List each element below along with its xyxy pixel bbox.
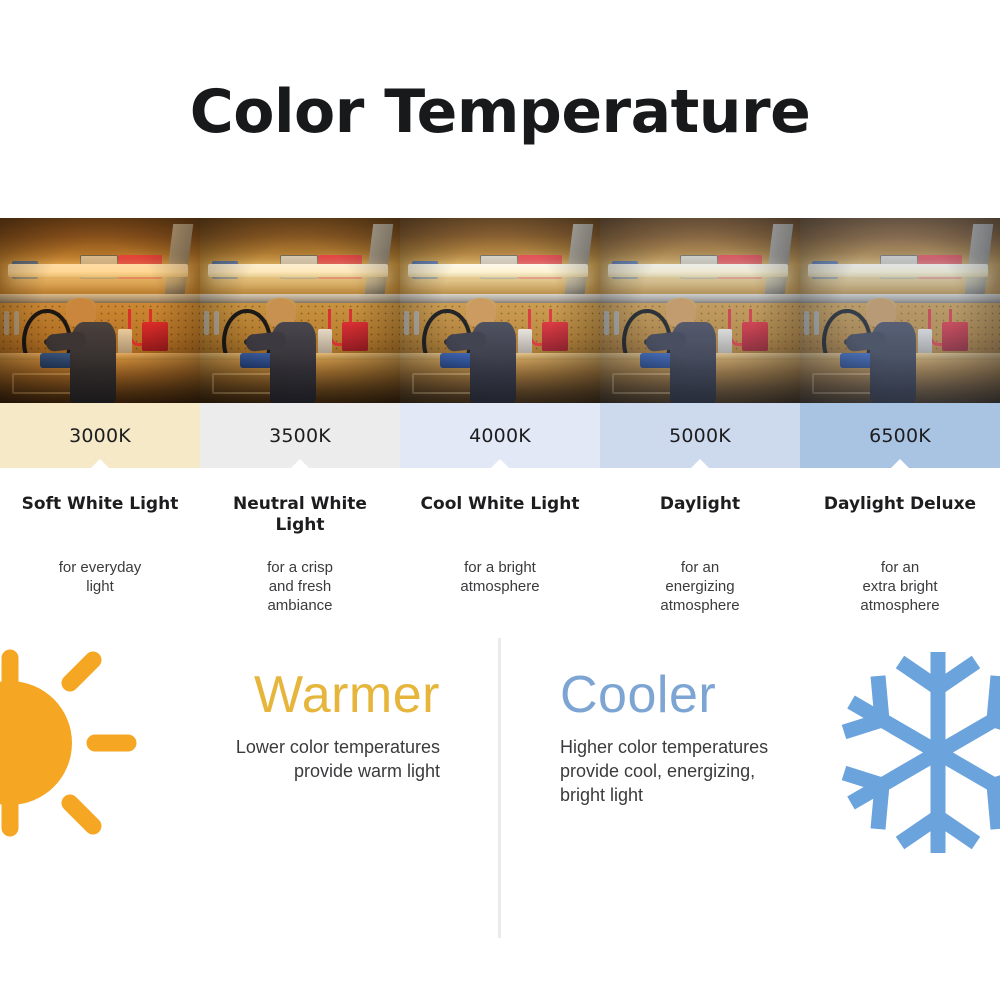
photo-comparison-strip	[0, 218, 1000, 403]
description-title: Daylight	[612, 494, 788, 538]
cooler-heading: Cooler	[560, 668, 860, 723]
swatch-pointer-notch	[691, 459, 709, 468]
kelvin-label: 3500K	[269, 425, 331, 447]
description-row: Soft White Lightfor everyday lightNeutra…	[0, 468, 1000, 616]
description-column: Daylightfor an energizing atmosphere	[600, 494, 800, 616]
description-title: Neutral White Light	[212, 494, 388, 538]
photo-5000k	[600, 218, 800, 403]
swatch-pointer-notch	[891, 459, 909, 468]
description-column: Neutral White Lightfor a crisp and fresh…	[200, 494, 400, 616]
kelvin-swatch-6500k: 6500K	[800, 403, 1000, 468]
description-title: Cool White Light	[412, 494, 588, 538]
kelvin-swatch-4000k: 4000K	[400, 403, 600, 468]
swatch-pointer-notch	[291, 459, 309, 468]
snowflake-icon	[838, 640, 1000, 865]
cooler-body: Higher color temperatures provide cool, …	[560, 736, 860, 807]
description-subtext: for a bright atmosphere	[412, 558, 588, 596]
description-title: Daylight Deluxe	[812, 494, 988, 538]
kelvin-swatch-3000k: 3000K	[0, 403, 200, 468]
section-divider	[498, 638, 501, 938]
kelvin-label: 6500K	[869, 425, 931, 447]
kelvin-label: 4000K	[469, 425, 531, 447]
vignette	[800, 218, 1000, 403]
description-subtext: for an energizing atmosphere	[612, 558, 788, 616]
vignette	[600, 218, 800, 403]
photo-3000k	[0, 218, 200, 403]
photo-6500k	[800, 218, 1000, 403]
warmer-body: Lower color temperatures provide warm li…	[150, 736, 440, 784]
kelvin-swatch-3500k: 3500K	[200, 403, 400, 468]
warm-cool-section: Warmer Lower color temperatures provide …	[0, 628, 1000, 983]
page-title: Color Temperature	[190, 76, 811, 142]
description-subtext: for everyday light	[12, 558, 188, 596]
vignette	[200, 218, 400, 403]
sun-icon	[0, 636, 153, 851]
photo-4000k	[400, 218, 600, 403]
description-subtext: for a crisp and fresh ambiance	[212, 558, 388, 616]
warmer-heading: Warmer	[150, 668, 440, 723]
description-title: Soft White Light	[12, 494, 188, 538]
kelvin-scale-bar: 3000K3500K4000K5000K6500K	[0, 403, 1000, 468]
kelvin-swatch-5000k: 5000K	[600, 403, 800, 468]
kelvin-label: 5000K	[669, 425, 731, 447]
description-column: Daylight Deluxefor an extra bright atmos…	[800, 494, 1000, 616]
warmer-block: Warmer Lower color temperatures provide …	[150, 668, 440, 784]
description-column: Cool White Lightfor a bright atmosphere	[400, 494, 600, 616]
cooler-block: Cooler Higher color temperatures provide…	[560, 668, 860, 808]
vignette	[0, 218, 200, 403]
description-subtext: for an extra bright atmosphere	[812, 558, 988, 616]
swatch-pointer-notch	[91, 459, 109, 468]
description-column: Soft White Lightfor everyday light	[0, 494, 200, 616]
swatch-pointer-notch	[491, 459, 509, 468]
header: Color Temperature	[0, 0, 1000, 218]
vignette	[400, 218, 600, 403]
kelvin-label: 3000K	[69, 425, 131, 447]
photo-3500k	[200, 218, 400, 403]
